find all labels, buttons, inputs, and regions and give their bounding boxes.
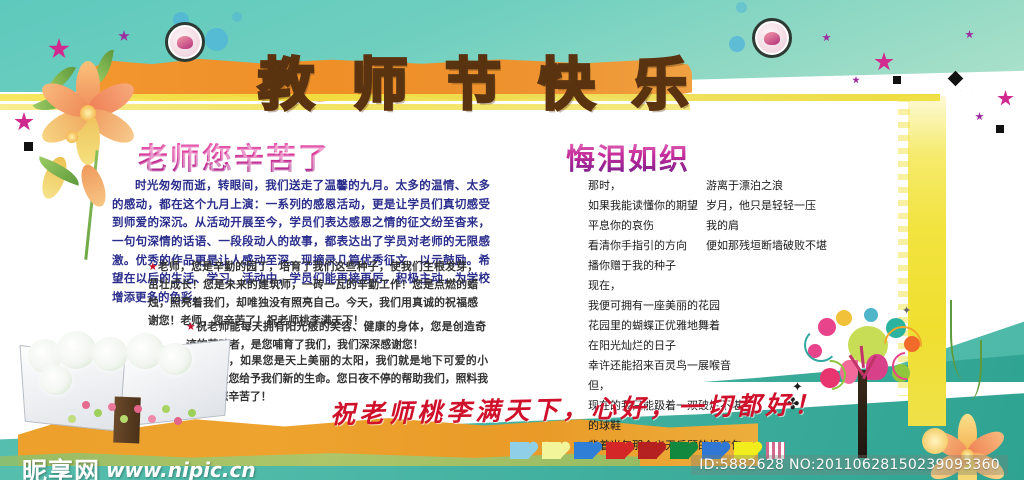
tiny-flower-5 [134, 405, 142, 413]
tiny-flower-4 [120, 415, 128, 423]
poem-column-right: 游离于漂泊之浪 岁月，他只是轻轻一压 我的肩 便如那残垣断墙破败不堪 [706, 176, 886, 256]
decor-circle-4 [729, 36, 745, 52]
heart-red-icon [606, 442, 625, 459]
heart-blue-icon [574, 442, 593, 459]
title-char-5: 乐 [632, 58, 688, 114]
heart-green-icon [670, 442, 689, 459]
tiny-flower-9 [68, 415, 76, 423]
title-char-4: 快 [539, 58, 595, 114]
tree-blob-4 [864, 308, 878, 322]
tree-trunk [858, 370, 867, 458]
poster-title: 教 师 节 快 乐 [258, 52, 688, 120]
watermark-id-label: ID:5882628 NO:20110628150239093360 [691, 455, 1008, 475]
tiny-flower-10 [188, 409, 196, 417]
poster-canvas: 教 师 节 快 乐 老师您辛苦了 时光匆匆而逝，转眼间，我们送走了温馨的九月。太… [0, 0, 1024, 480]
flower-center-2 [66, 131, 78, 143]
flower-center [80, 105, 96, 121]
title-char-3: 节 [445, 58, 501, 114]
left-column-heading: 老师您辛苦了 [138, 134, 330, 178]
tiny-flower-3 [108, 403, 116, 411]
lily-6 [40, 365, 72, 395]
flower-decoration-top-left [30, 55, 140, 165]
butterfly-icon-3: ✦ [902, 304, 911, 317]
tiny-flower-8 [174, 417, 182, 425]
book-decoration-bottom-left [22, 335, 232, 455]
tiny-flower-1 [82, 401, 90, 409]
watermark-url: www.nipic.cn [106, 458, 256, 480]
right-column-heading: 悔泪如织 [566, 136, 690, 178]
heart-paleyellow-icon [542, 442, 561, 459]
tree-swirl-1 [804, 328, 838, 362]
title-char-2: 师 [352, 58, 408, 114]
decor-circle-3 [232, 12, 242, 22]
medallion-left-dot [177, 36, 193, 49]
square-dot-2 [893, 76, 901, 84]
square-dot-3 [996, 125, 1004, 133]
tiny-flower-2 [94, 409, 102, 417]
watermark-left: 昵享网 www.nipic.cn [22, 452, 256, 480]
decor-circle-2 [205, 28, 228, 51]
star-bullet-icon-2: ★ [186, 320, 196, 333]
heart-lightblue-icon [510, 442, 529, 459]
flower-accent-bottom-right [922, 428, 948, 454]
watermark-logo: 昵享网 [22, 452, 100, 480]
heart-darkred-icon [638, 442, 657, 459]
medallion-right-dot [764, 32, 780, 45]
lily-5 [158, 343, 192, 375]
star-bullet-icon-1: ★ [148, 260, 158, 273]
medallion-left-icon [165, 22, 205, 62]
tiny-flower-7 [162, 405, 170, 413]
lily-2 [56, 331, 96, 369]
lily-3 [92, 337, 128, 371]
tree-blob-3 [836, 310, 852, 326]
title-char-1: 教 [258, 58, 314, 114]
decor-circle-5 [736, 2, 747, 13]
tiny-flower-6 [148, 415, 156, 423]
medallion-right-icon [752, 18, 792, 58]
